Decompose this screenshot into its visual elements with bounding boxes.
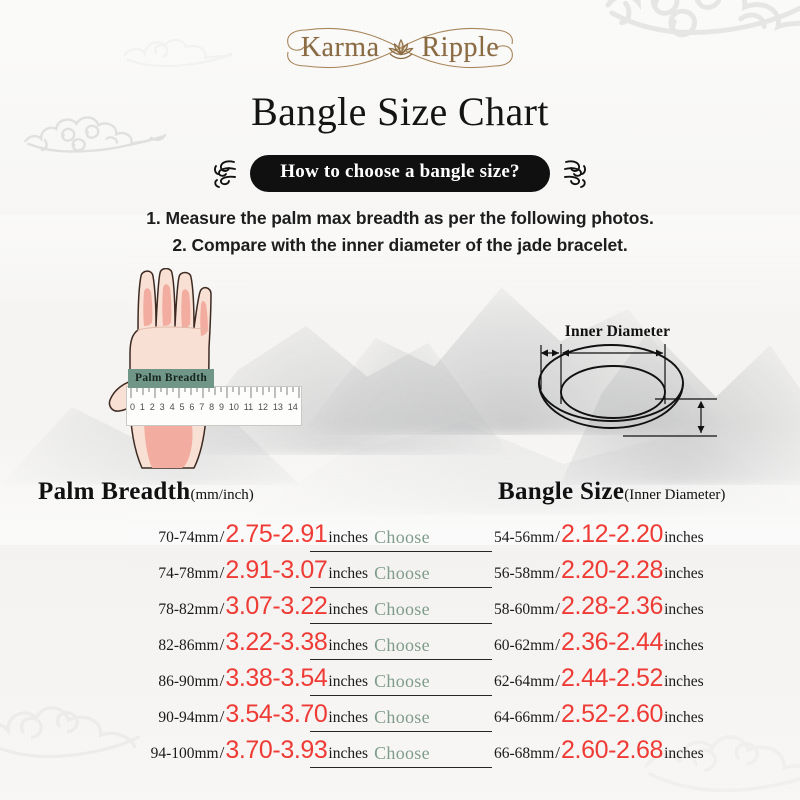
ruler-icon: 0 1 2 3 4 5 6 7 8 9 10 11 12 13 14 (126, 386, 302, 426)
brand-name-right: Ripple (422, 32, 500, 64)
table-headers: Palm Breadth(mm/inch) Bangle Size(Inner … (0, 478, 800, 510)
ruler-ticks (127, 387, 303, 401)
ruler-mark: 3 (160, 402, 165, 412)
choose-underline (310, 659, 492, 660)
bangle-size-cell: 62-64mm/2.44-2.52inches (494, 664, 704, 693)
cloud-swirl-ornament-icon (212, 156, 238, 190)
table-row: 74-78mm/2.91-3.07inchesChoose56-58mm/2.2… (0, 556, 800, 592)
ruler-mark: 7 (199, 402, 204, 412)
bangle-size-chart-page: Karma Ripple Bangle Size Chart (0, 0, 800, 800)
ruler-mark: 11 (244, 402, 253, 412)
choose-underline (310, 623, 492, 624)
ruler-mark: 2 (150, 402, 155, 412)
instruction-step-1: 1. Measure the palm max breadth as per t… (0, 205, 800, 232)
page-title: Bangle Size Chart (0, 88, 800, 135)
ruler-mark: 4 (170, 402, 175, 412)
bangle-size-cell: 66-68mm/2.60-2.68inches (494, 736, 704, 765)
choose-label[interactable]: Choose (318, 708, 486, 730)
illustration-row: Inner Diameter (0, 268, 800, 480)
question-pill: How to choose a bangle size? (250, 155, 549, 192)
ruler-mark: 9 (219, 402, 224, 412)
bangle-size-cell: 58-60mm/2.28-2.36inches (494, 592, 704, 621)
choose-underline (310, 767, 492, 768)
ruler-mark: 8 (209, 402, 214, 412)
ruler-mark: 10 (229, 402, 239, 412)
instructions: 1. Measure the palm max breadth as per t… (0, 205, 800, 259)
choose-cell[interactable]: Choose (318, 528, 486, 550)
ruler-mark: 13 (273, 402, 283, 412)
lotus-icon (386, 36, 416, 60)
ruler-mark: 12 (258, 402, 268, 412)
choose-cell[interactable]: Choose (318, 672, 486, 694)
choose-label[interactable]: Choose (318, 672, 486, 694)
ruler-mark: 0 (130, 402, 135, 412)
cloud-swirl-ornament-icon (562, 156, 588, 190)
brand-logo: Karma Ripple (0, 22, 800, 74)
ruler-mark: 1 (140, 402, 145, 412)
table-row: 82-86mm/3.22-3.38inchesChoose60-62mm/2.3… (0, 628, 800, 664)
choose-cell[interactable]: Choose (318, 600, 486, 622)
choose-underline (310, 731, 492, 732)
bangle-size-cell: 60-62mm/2.36-2.44inches (494, 628, 704, 657)
bangle-size-cell: 54-56mm/2.12-2.20inches (494, 520, 704, 549)
table-row: 90-94mm/3.54-3.70inchesChoose64-66mm/2.5… (0, 700, 800, 736)
bangle-size-header: Bangle Size(Inner Diameter) (498, 478, 725, 506)
ruler-mark: 14 (288, 402, 298, 412)
table-row: 86-90mm/3.38-3.54inchesChoose62-64mm/2.4… (0, 664, 800, 700)
ruler-numbers: 0 1 2 3 4 5 6 7 8 9 10 11 12 13 14 (130, 402, 298, 412)
bangle-ring-diagram: Inner Diameter (505, 268, 730, 473)
choose-underline (310, 695, 492, 696)
bangle-icon (505, 268, 730, 473)
choose-label[interactable]: Choose (318, 528, 486, 550)
table-row: 94-100mm/3.70-3.93inchesChoose66-68mm/2.… (0, 736, 800, 772)
ruler-mark: 6 (189, 402, 194, 412)
question-banner: How to choose a bangle size? (0, 155, 800, 192)
table-row: 70-74mm/2.75-2.91inchesChoose54-56mm/2.1… (0, 520, 800, 556)
bangle-size-cell: 56-58mm/2.20-2.28inches (494, 556, 704, 585)
choose-label[interactable]: Choose (318, 636, 486, 658)
choose-cell[interactable]: Choose (318, 708, 486, 730)
brand-name-left: Karma (301, 32, 380, 64)
palm-breadth-tag: Palm Breadth (128, 369, 214, 388)
choose-cell[interactable]: Choose (318, 744, 486, 766)
choose-label[interactable]: Choose (318, 600, 486, 622)
palm-breadth-header: Palm Breadth(mm/inch) (38, 478, 254, 506)
choose-cell[interactable]: Choose (318, 564, 486, 586)
bangle-size-cell: 64-66mm/2.52-2.60inches (494, 700, 704, 729)
size-table: 70-74mm/2.75-2.91inchesChoose54-56mm/2.1… (0, 520, 800, 772)
choose-underline (310, 551, 492, 552)
ruler-mark: 5 (179, 402, 184, 412)
instruction-step-2: 2. Compare with the inner diameter of th… (0, 232, 800, 259)
choose-underline (310, 587, 492, 588)
choose-cell[interactable]: Choose (318, 636, 486, 658)
table-row: 78-82mm/3.07-3.22inchesChoose58-60mm/2.2… (0, 592, 800, 628)
choose-label[interactable]: Choose (318, 744, 486, 766)
choose-label[interactable]: Choose (318, 564, 486, 586)
